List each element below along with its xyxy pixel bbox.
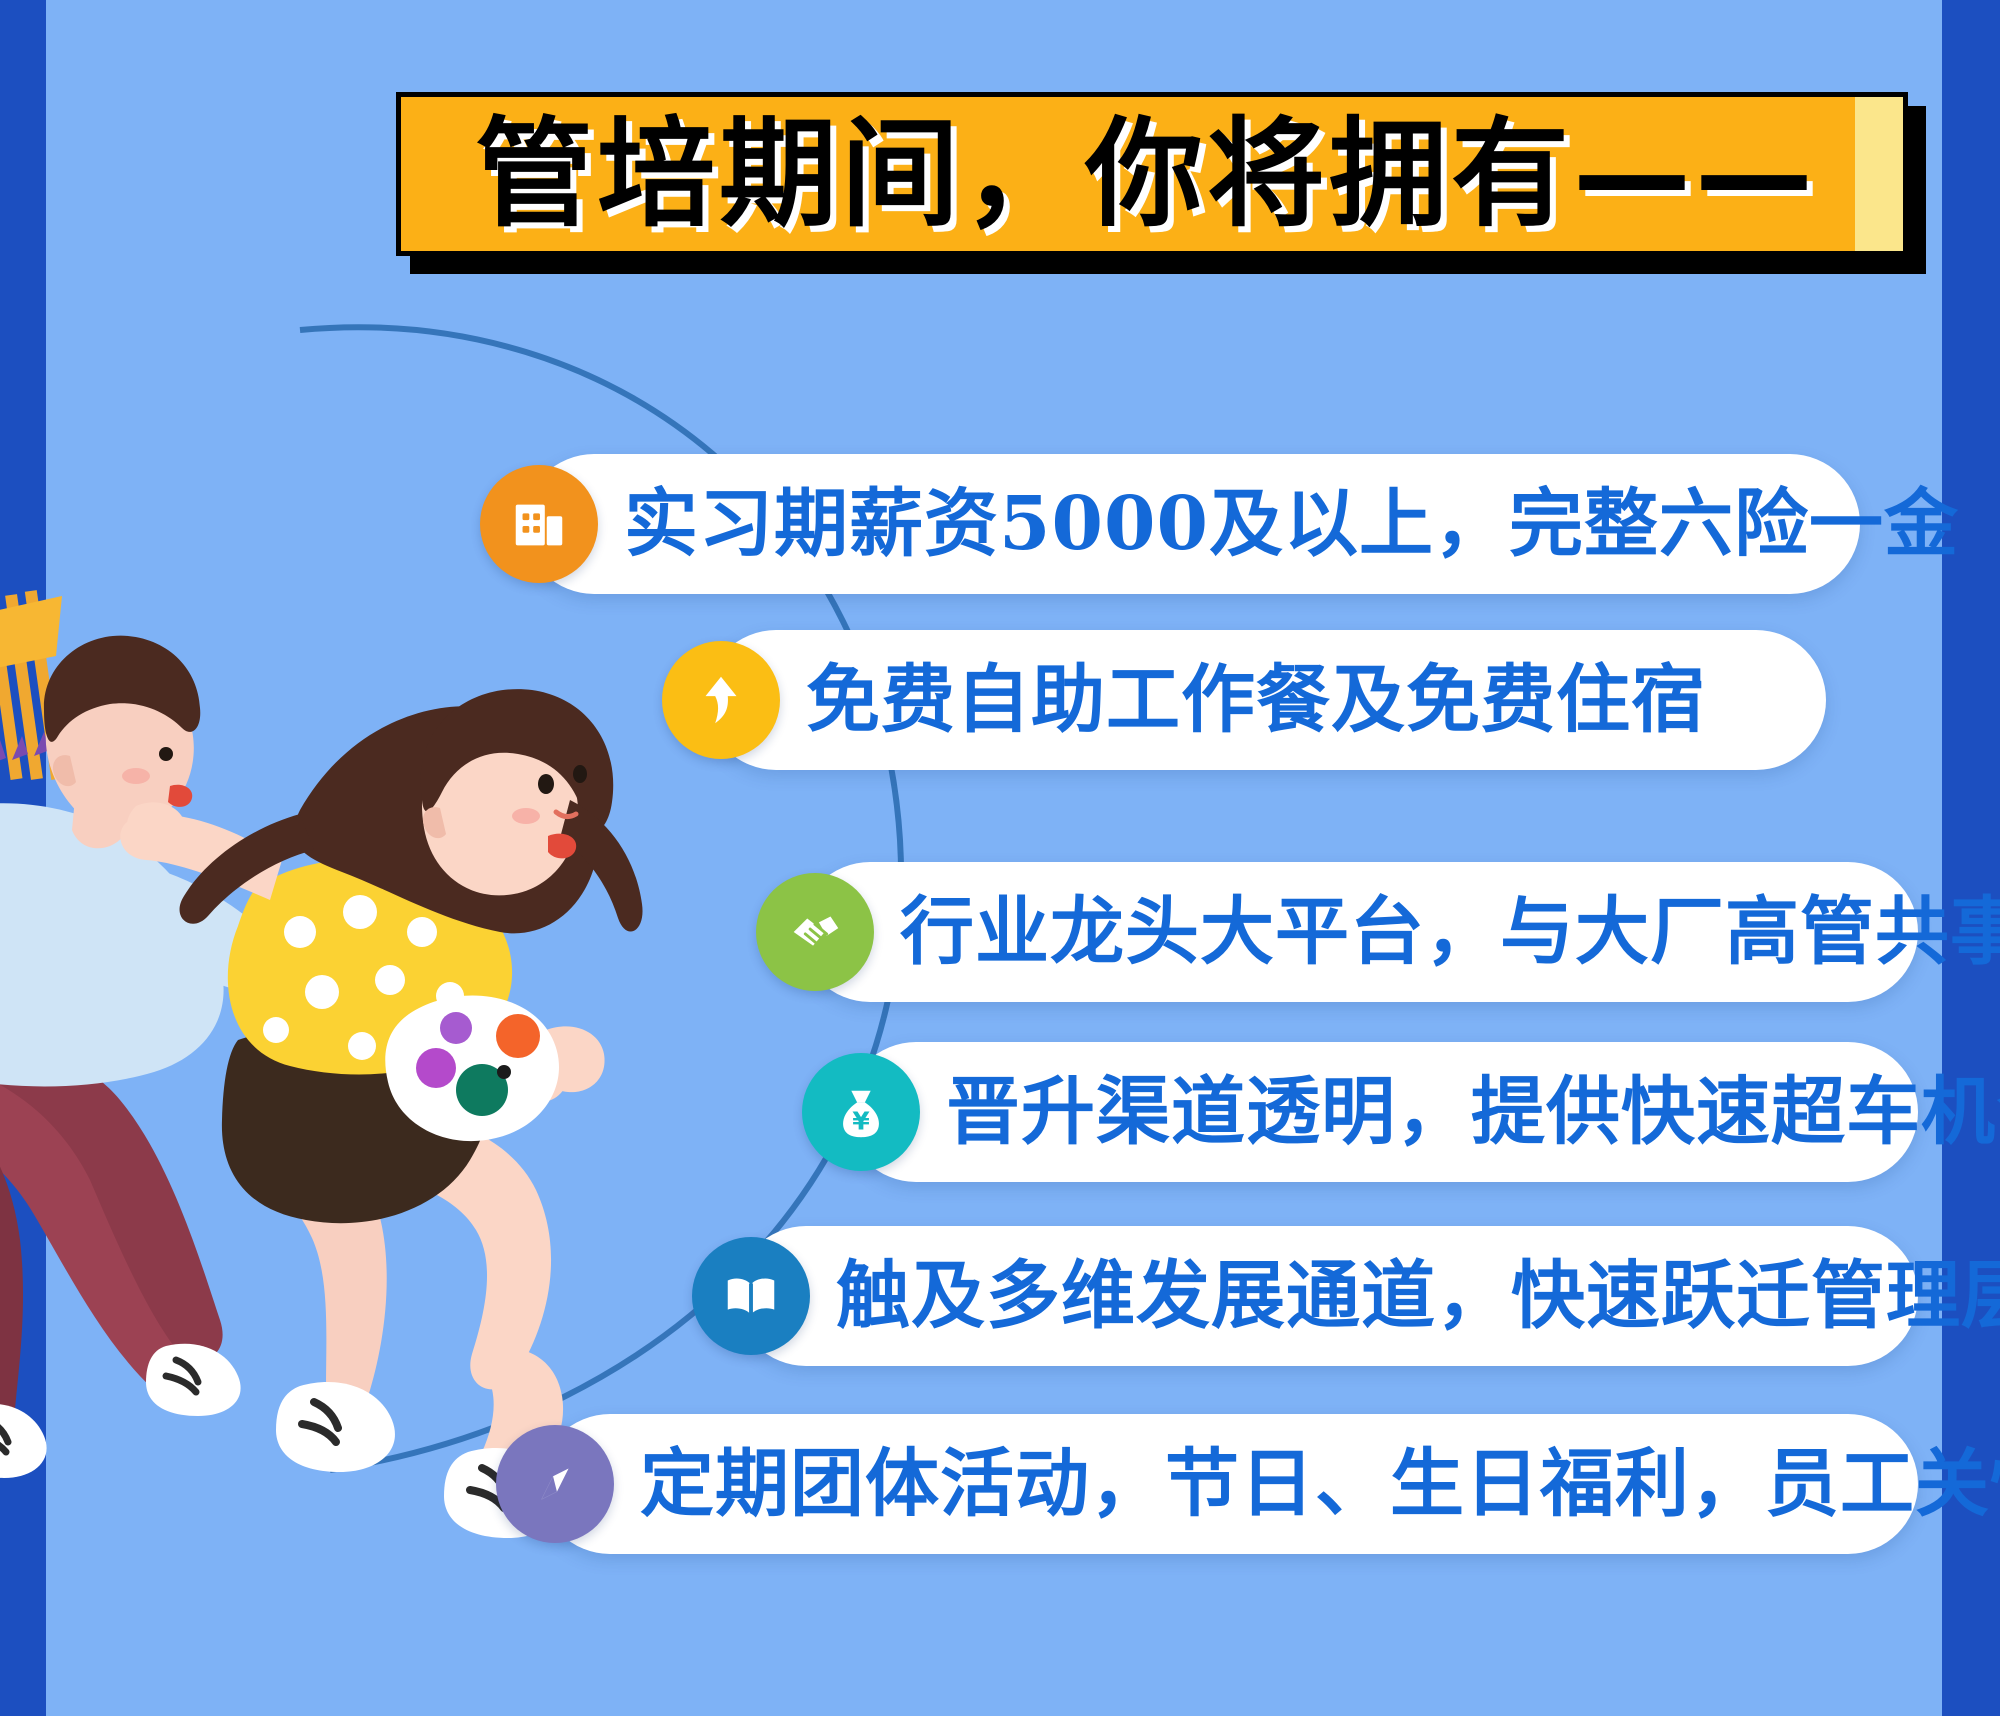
benefit-text: 触及多维发展通道，快速跃迁管理层 [836, 1259, 2000, 1333]
building-icon [480, 465, 598, 583]
benefit-row[interactable]: 触及多维发展通道，快速跃迁管理层 [736, 1226, 1918, 1366]
page-title: 管培期间，你将拥有—— [395, 115, 1897, 233]
benefit-text: 定期团体活动，节日、生日福利，员工关怀 [640, 1447, 2000, 1521]
title-box: 管培期间，你将拥有—— [396, 92, 1908, 256]
compass-icon [496, 1425, 614, 1543]
benefit-row[interactable]: ¥ 晋升渠道透明，提供快速超车机会 [846, 1042, 1918, 1182]
benefit-row[interactable]: 行业龙头大平台，与大厂高管共事 [800, 862, 1918, 1002]
title-banner: 管培期间，你将拥有—— [396, 92, 1912, 260]
benefit-text: 晋升渠道透明，提供快速超车机会 [946, 1075, 2000, 1149]
benefit-row[interactable]: 实习期薪资5000及以上，完整六险一金 [524, 454, 1860, 594]
open-book-icon [692, 1237, 810, 1355]
benefit-row[interactable]: 免费自助工作餐及免费住宿 [706, 630, 1826, 770]
benefits-list: 实习期薪资5000及以上，完整六险一金 免费自助工作餐及免费住宿 [0, 0, 2000, 1716]
money-bag-icon: ¥ [802, 1053, 920, 1171]
benefit-text: 实习期薪资5000及以上，完整六险一金 [624, 487, 1959, 561]
up-arrow-icon [662, 641, 780, 759]
handshake-icon [756, 873, 874, 991]
benefit-text: 免费自助工作餐及免费住宿 [806, 663, 1706, 737]
svg-text:¥: ¥ [852, 1106, 870, 1135]
benefit-row[interactable]: 定期团体活动，节日、生日福利，员工关怀 [540, 1414, 1918, 1554]
poster-canvas: 管培期间，你将拥有—— [0, 0, 2000, 1716]
benefit-text: 行业龙头大平台，与大厂高管共事 [900, 895, 2000, 969]
